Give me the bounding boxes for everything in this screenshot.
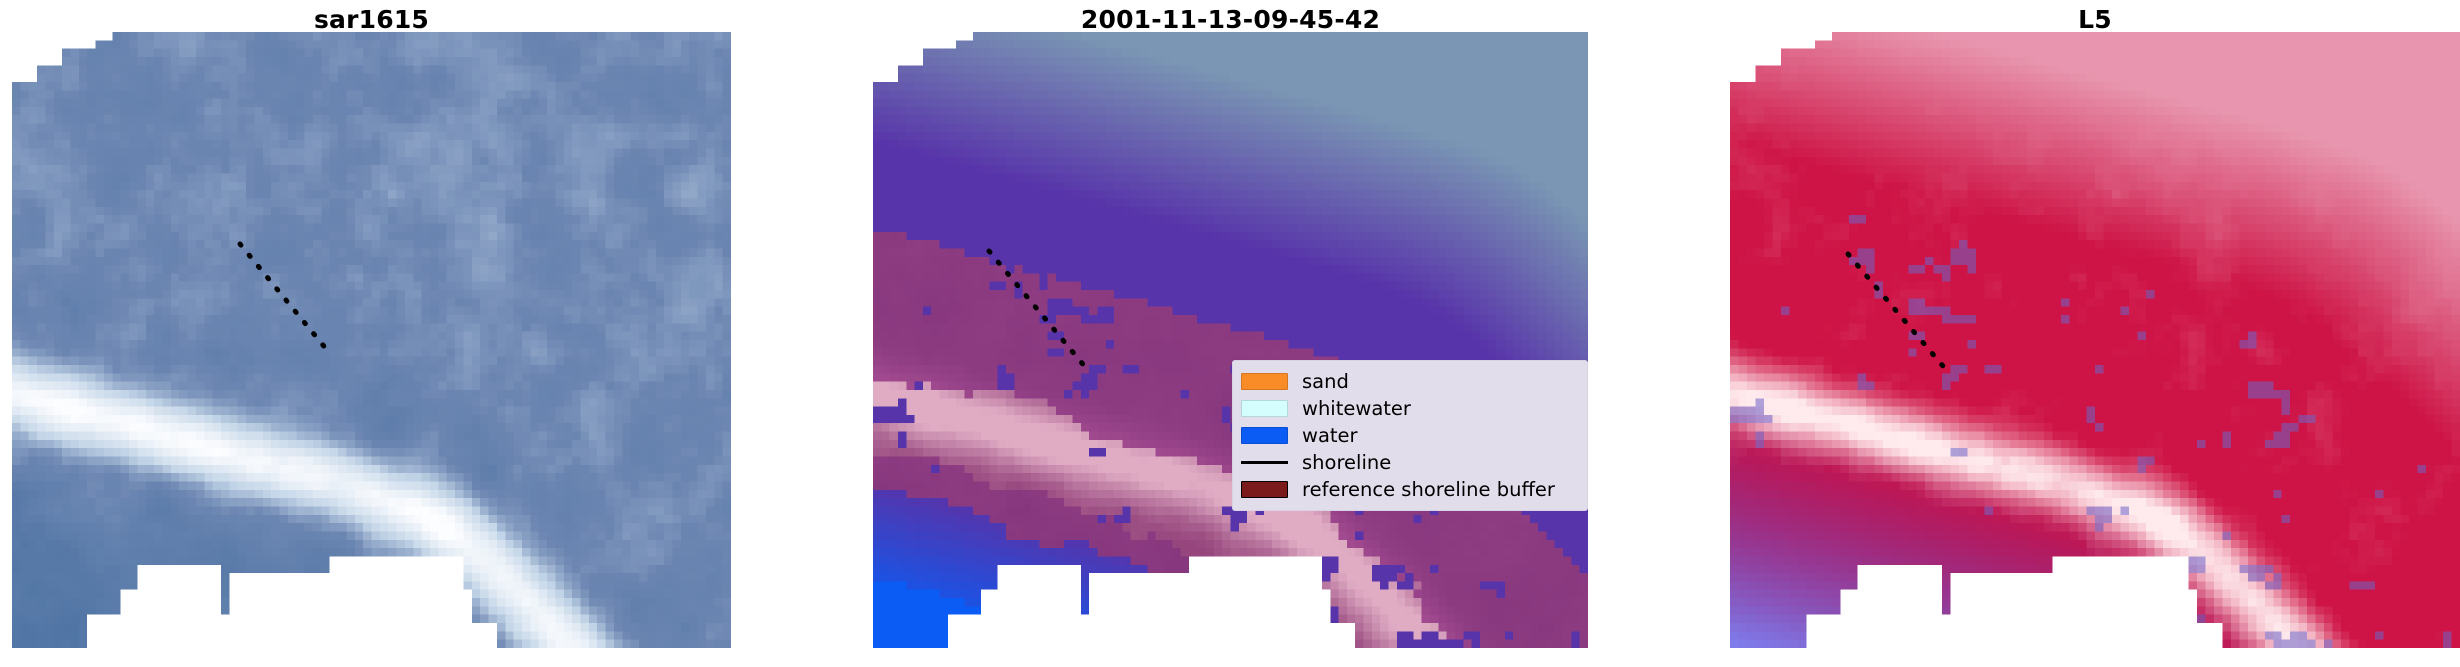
legend-label: water	[1302, 426, 1358, 446]
figure-canvas: sar1615 2001-11-13-09-45-42 L5	[0, 0, 2460, 667]
whitewater-swatch-icon	[1241, 400, 1288, 417]
legend-item[interactable]: water	[1241, 422, 1578, 449]
sand-swatch-icon	[1241, 373, 1288, 390]
legend-item[interactable]: whitewater	[1241, 395, 1578, 422]
water-swatch-icon	[1241, 427, 1288, 444]
legend-item[interactable]: reference shoreline buffer	[1241, 476, 1578, 503]
reference-buffer-swatch-icon	[1241, 481, 1288, 498]
legend: sand whitewater water shoreline referenc…	[1232, 360, 1588, 511]
legend-item[interactable]: shoreline	[1241, 449, 1578, 476]
legend-item[interactable]: sand	[1241, 368, 1578, 395]
legend-label: shoreline	[1302, 453, 1391, 473]
legend-label: sand	[1302, 372, 1349, 392]
axes-l5	[1730, 32, 2460, 648]
panel-sar1615: sar1615	[12, 0, 731, 667]
legend-label: whitewater	[1302, 399, 1411, 419]
legend-label: reference shoreline buffer	[1302, 480, 1555, 500]
axes-classified	[873, 32, 1588, 648]
panel-l5: L5	[1730, 0, 2460, 667]
shoreline-line-icon	[1241, 461, 1288, 464]
axes-sar1615	[12, 32, 731, 648]
panel-classified: 2001-11-13-09-45-42	[873, 0, 1588, 667]
